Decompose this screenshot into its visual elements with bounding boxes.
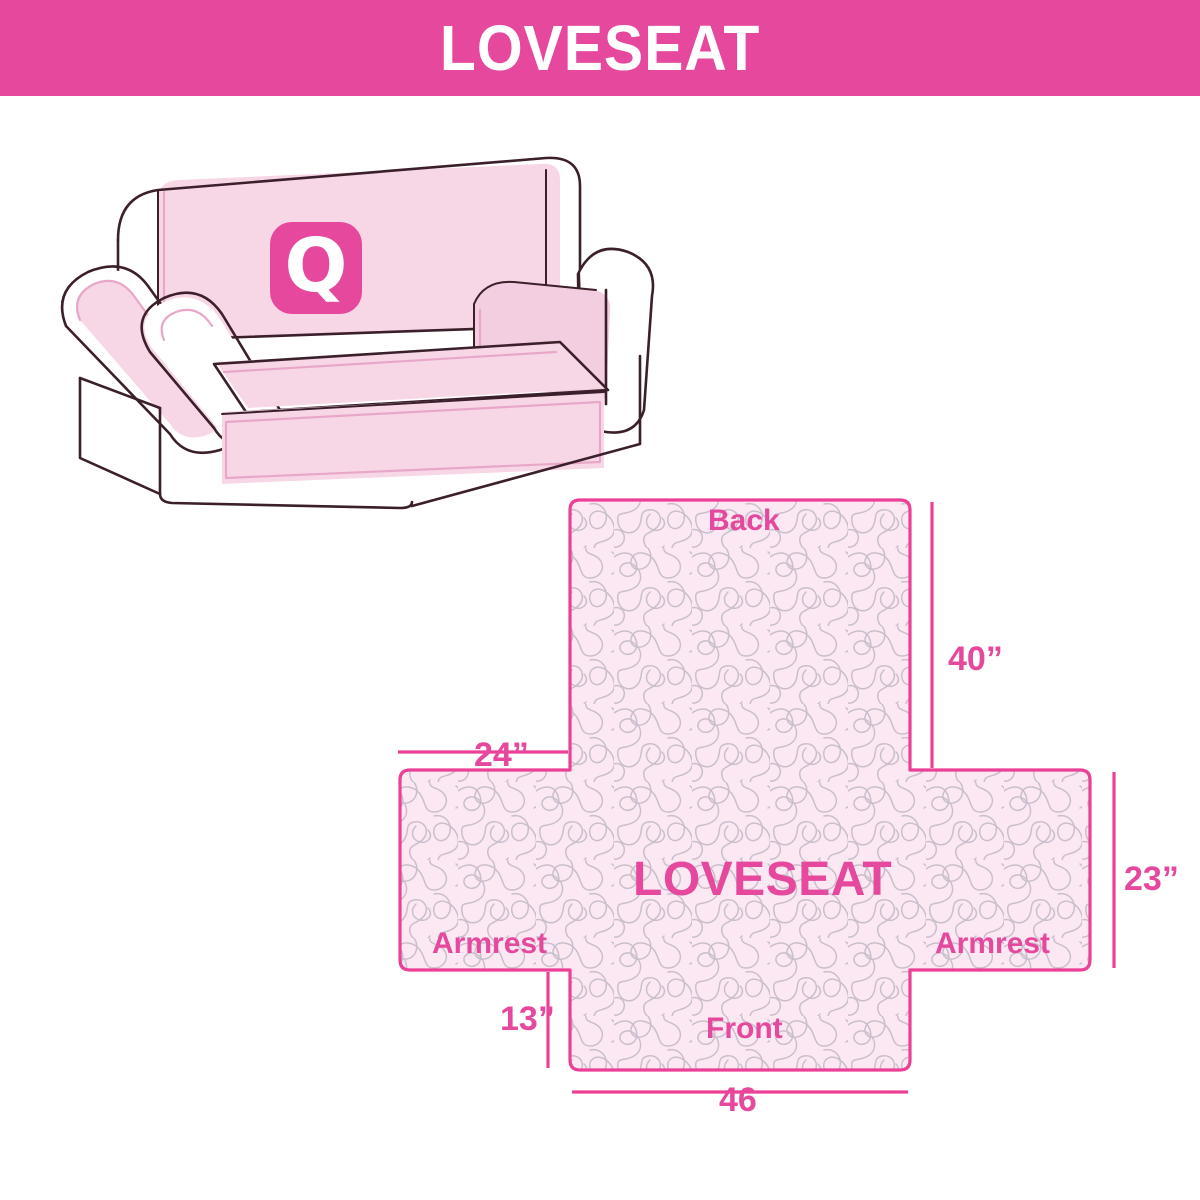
- seat-cushion: [214, 342, 608, 484]
- cover-shape: [400, 500, 1090, 1070]
- dimension-label-back-height: 40”: [948, 642, 1003, 676]
- panel-label-front: Front: [706, 1014, 783, 1044]
- dimension-label-front-height: 13”: [500, 1002, 555, 1036]
- logo-letter: Q: [285, 229, 348, 303]
- panel-label-armrest-right: Armrest: [935, 929, 1050, 959]
- panel-label-back: Back: [708, 506, 780, 536]
- dimension-label-seat-height: 23”: [1124, 862, 1179, 896]
- brand-logo-badge: Q: [270, 222, 362, 314]
- size-guide-page: LOVESEAT .ink { fill:none; stroke:#3b1f2…: [0, 0, 1200, 1200]
- cover-center-label: LOVESEAT: [633, 856, 892, 904]
- dimension-label-front-width: 46: [719, 1083, 757, 1117]
- header-banner: LOVESEAT: [0, 0, 1200, 96]
- cover-flat-layout-diagram: [380, 470, 1180, 1150]
- page-title: LOVESEAT: [440, 16, 760, 80]
- dimension-label-armrest-width: 24”: [474, 738, 529, 772]
- panel-label-armrest-left: Armrest: [432, 929, 547, 959]
